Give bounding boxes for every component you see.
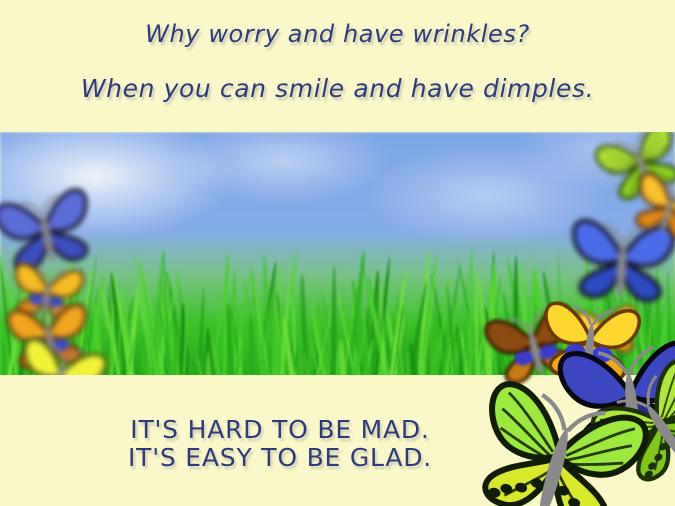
quote-line-2: When you can smile and have dimples. [0, 74, 675, 103]
quote-block: Why worry and have wrinkles? When you ca… [0, 0, 675, 132]
poster-canvas: Why worry and have wrinkles? When you ca… [0, 0, 675, 506]
quote-line-1: Why worry and have wrinkles? [0, 20, 675, 48]
